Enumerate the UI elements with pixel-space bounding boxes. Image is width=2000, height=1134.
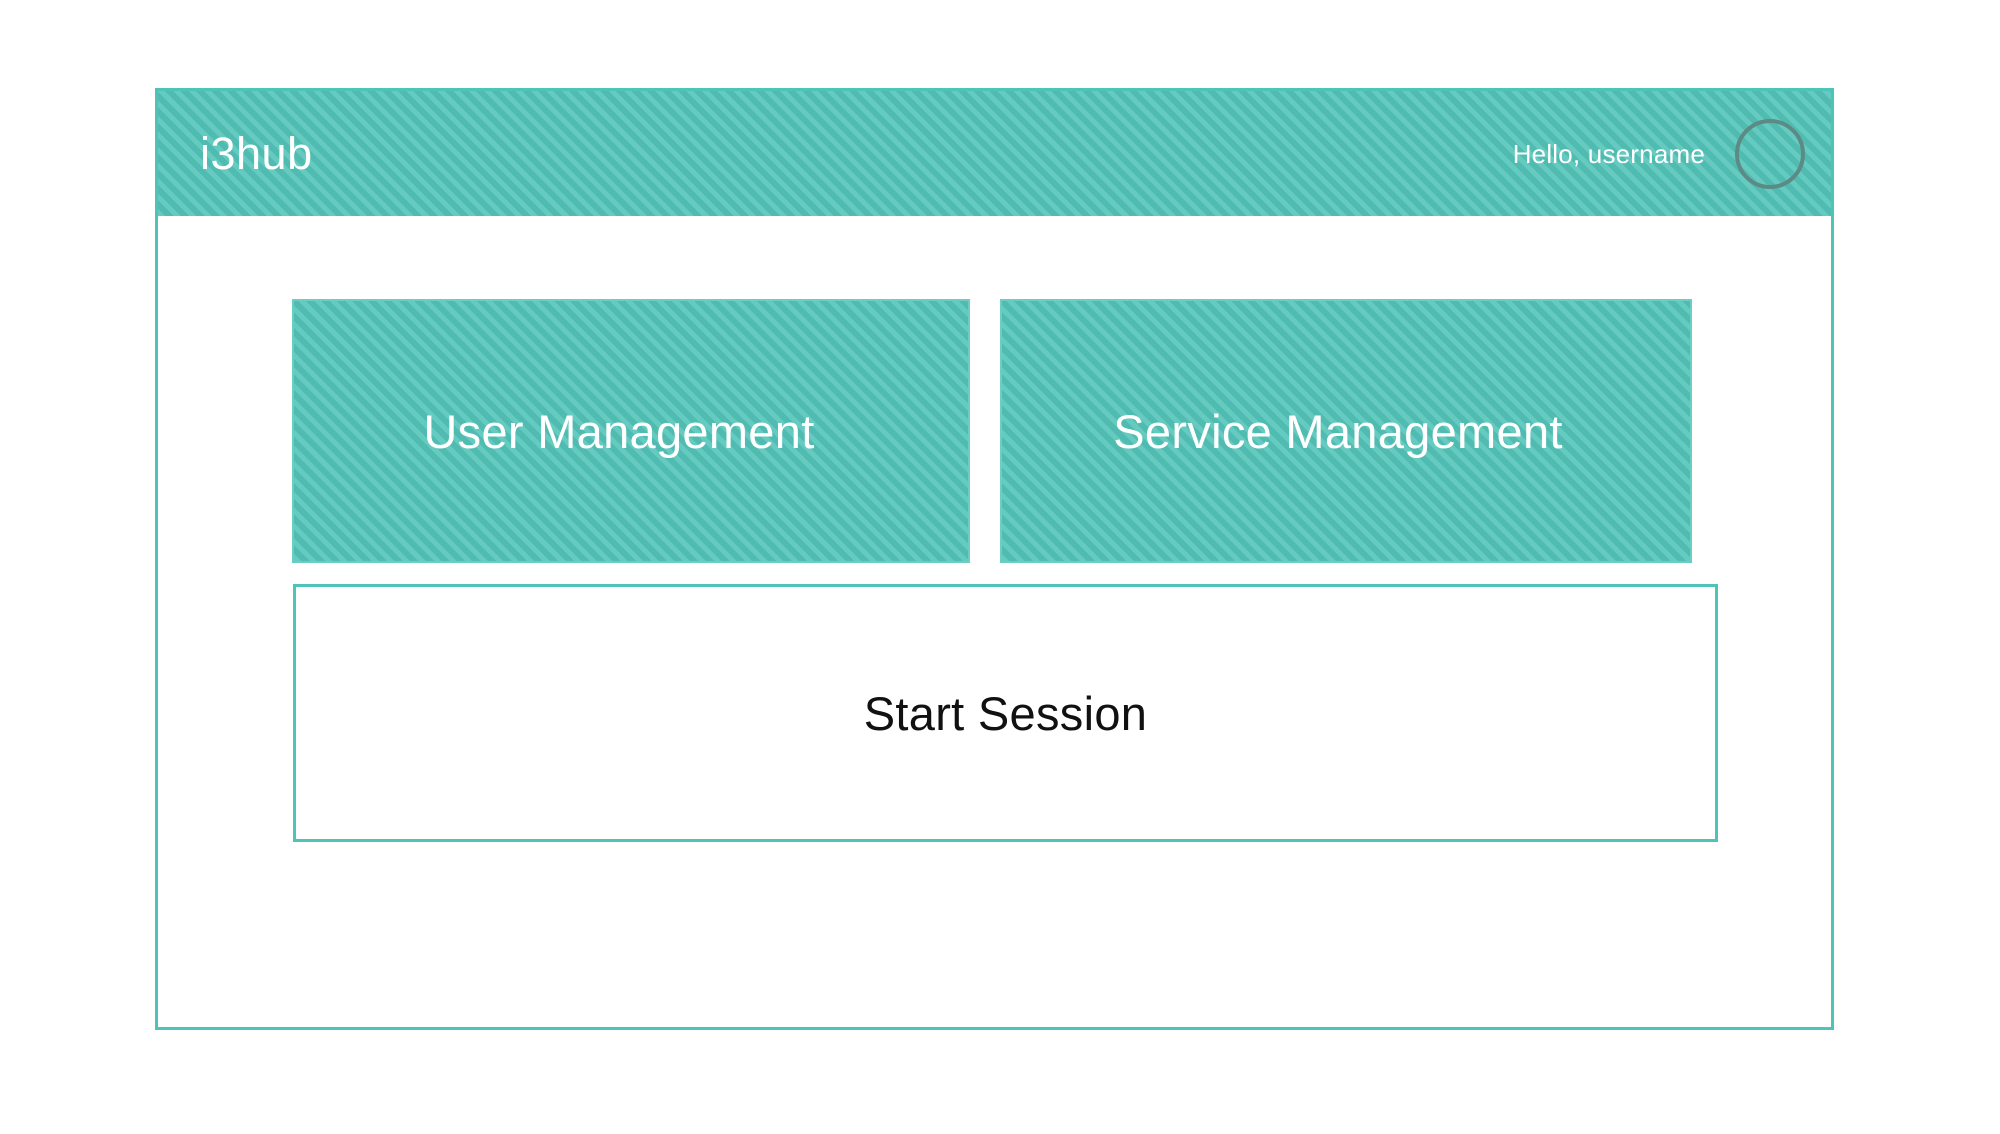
app-header-bar: i3hub Hello, username bbox=[158, 91, 1831, 216]
management-tile-row: User Management Service Management bbox=[292, 299, 1692, 563]
dashboard-content: User Management Service Management Start… bbox=[158, 216, 1831, 1027]
user-avatar-circle-icon[interactable] bbox=[1735, 119, 1805, 189]
tile-user-management[interactable]: User Management bbox=[292, 299, 970, 563]
tile-service-management-label: Service Management bbox=[1113, 408, 1563, 455]
app-window-frame: i3hub Hello, username User Management Se… bbox=[155, 88, 1834, 1030]
header-user-area: Hello, username bbox=[1513, 119, 1805, 189]
tile-user-management-label: User Management bbox=[423, 408, 814, 455]
user-greeting-label: Hello, username bbox=[1513, 141, 1705, 167]
tile-service-management[interactable]: Service Management bbox=[1000, 299, 1692, 563]
start-session-button[interactable]: Start Session bbox=[293, 584, 1718, 842]
app-logo[interactable]: i3hub bbox=[200, 131, 313, 176]
start-session-label: Start Session bbox=[864, 690, 1147, 737]
